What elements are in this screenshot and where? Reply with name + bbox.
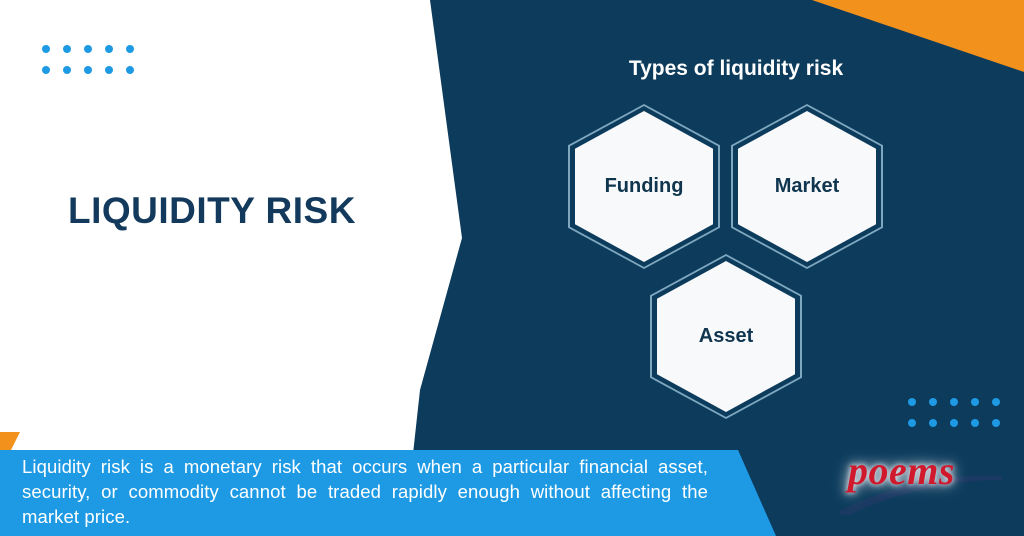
hexagon-market[interactable]: Market [731,104,883,269]
caption-description: Liquidity risk is a monetary risk that o… [22,454,708,529]
poems-logo[interactable]: poems [838,445,1008,515]
decorative-dot [126,66,134,74]
decorative-dot [971,419,979,427]
decorative-dot [929,419,937,427]
hexagon-funding[interactable]: Funding [568,104,720,269]
decorative-dot [63,66,71,74]
decorative-dot [992,419,1000,427]
decorative-dot [950,419,958,427]
decorative-dot [908,398,916,406]
decorative-dot [42,45,50,53]
hexagon-label: Asset [650,254,802,419]
hexagon-asset[interactable]: Asset [650,254,802,419]
panel-heading: Types of liquidity risk [586,57,886,81]
decorative-dot [84,66,92,74]
hexagon-label: Funding [568,104,720,269]
hexagon-label: Market [731,104,883,269]
decorative-dot [84,45,92,53]
dot-grid-top-left [42,45,147,87]
decorative-dot [950,398,958,406]
decorative-dot [971,398,979,406]
decorative-dot [105,66,113,74]
decorative-dot [105,45,113,53]
decorative-dot [63,45,71,53]
infographic-canvas: LIQUIDITY RISK Types of liquidity risk F… [0,0,1024,536]
page-title: LIQUIDITY RISK [68,190,356,232]
decorative-dot [126,45,134,53]
decorative-dot [992,398,1000,406]
poems-wordmark: poems [848,447,955,494]
decorative-dot [42,66,50,74]
dot-grid-bottom-right [908,398,1013,440]
decorative-dot [929,398,937,406]
decorative-dot [908,419,916,427]
